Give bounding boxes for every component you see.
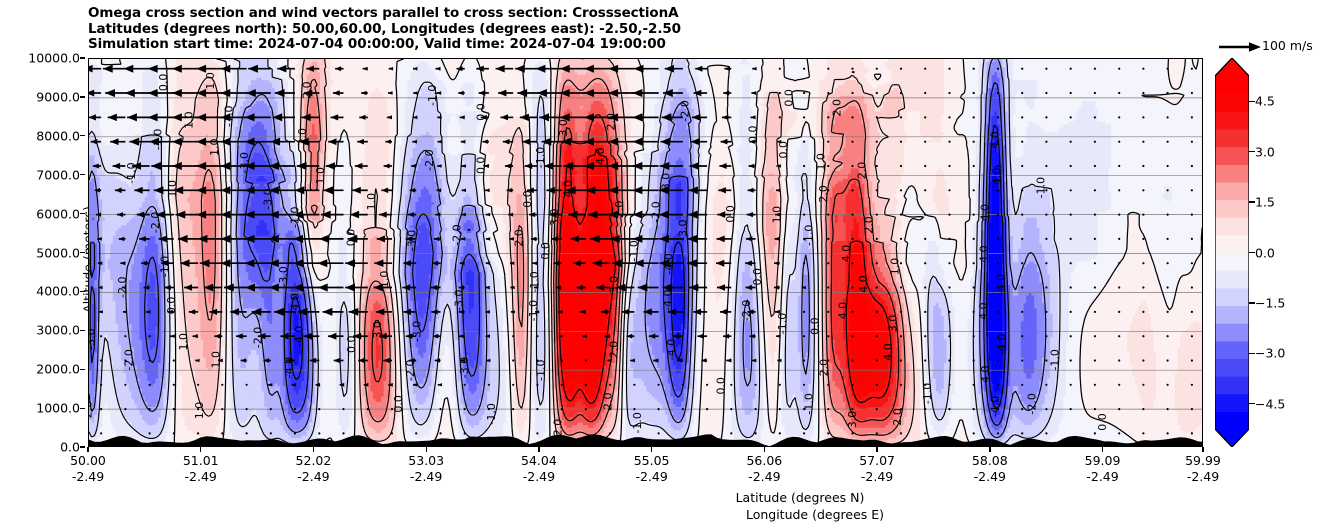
figure-canvas: Omega cross section and wind vectors par…	[0, 0, 1320, 526]
x-tick-label: 59.99-2.49	[1185, 453, 1221, 485]
colorbar-tick-mark	[1249, 353, 1255, 354]
colorbar-tick-mark	[1249, 302, 1255, 303]
colorbar-tick-mark	[1249, 201, 1255, 202]
x-tick-mark	[764, 447, 765, 452]
x-tick-mark	[876, 447, 877, 452]
colorbar-tick-mark	[1249, 101, 1255, 102]
x-tick-label: 52.02-2.49	[296, 453, 332, 485]
x-tick-mark	[651, 447, 652, 452]
x-tick-label: 57.07-2.49	[859, 453, 895, 485]
x-tick-label: 59.09-2.49	[1085, 453, 1121, 485]
x-tick-label: 55.05-2.49	[634, 453, 670, 485]
colorbar-tick-label: −1.5	[1255, 295, 1285, 310]
colorbar-tick-label: 3.0	[1255, 144, 1275, 159]
x-tick-label: 53.03-2.49	[408, 453, 444, 485]
y-tick-label: 10000.0	[28, 51, 80, 66]
y-tick-mark	[80, 57, 85, 58]
colorbar-tick-label: −3.0	[1255, 346, 1285, 361]
title-line-1: Omega cross section and wind vectors par…	[88, 5, 678, 21]
y-tick-label: 8000.0	[36, 128, 80, 143]
y-tick-label: 6000.0	[36, 206, 80, 221]
y-tick-label: 3000.0	[36, 323, 80, 338]
y-tick-mark	[80, 96, 85, 97]
y-tick-mark	[80, 446, 85, 447]
y-tick-label: 9000.0	[36, 89, 80, 104]
colorbar-tick-mark	[1249, 252, 1255, 253]
x-tick-mark	[989, 447, 990, 452]
title-line-2: Latitudes (degrees north): 50.00,60.00, …	[88, 21, 681, 37]
x-tick-mark	[1202, 447, 1203, 452]
colorbar-tick-label: 0.0	[1255, 245, 1275, 260]
colorbar-tick-label: 4.5	[1255, 94, 1275, 109]
colorbar-gradient	[1215, 58, 1249, 447]
colorbar-tick-mark	[1249, 151, 1255, 152]
x-tick-mark	[200, 447, 201, 452]
x-axis-title: Latitude (degrees N)Longitude (degrees E…	[300, 489, 1300, 523]
x-tick-mark	[1102, 447, 1103, 452]
x-tick-label: 51.01-2.49	[183, 453, 219, 485]
y-axis-ticks: 10000.09000.08000.07000.06000.05000.0400…	[0, 58, 80, 447]
colorbar: 4.53.01.50.0−1.5−3.0−4.5	[1215, 58, 1249, 447]
y-tick-label: 7000.0	[36, 167, 80, 182]
y-tick-label: 1000.0	[36, 401, 80, 416]
x-tick-label: 56.06-2.49	[746, 453, 782, 485]
x-tick-label: 58.08-2.49	[972, 453, 1008, 485]
y-tick-mark	[80, 135, 85, 136]
title-line-3: Simulation start time: 2024-07-04 00:00:…	[88, 36, 666, 52]
x-tick-mark	[87, 447, 88, 452]
y-tick-label: 5000.0	[36, 245, 80, 260]
y-tick-mark	[80, 408, 85, 409]
x-tick-mark	[426, 447, 427, 452]
figure-title: Omega cross section and wind vectors par…	[88, 6, 1188, 53]
wind-vector-key-label: 100 m/s	[1262, 38, 1313, 53]
x-tick-mark	[538, 447, 539, 452]
colorbar-tick-label: −4.5	[1255, 396, 1285, 411]
omega-cross-section: -4.0-4.0-4.0-4.0-4.0-4.0-4.0-4.0-4.0-4.0…	[89, 59, 1203, 447]
x-tick-label: 50.00-2.49	[70, 453, 106, 485]
x-tick-label: 54.04-2.49	[521, 453, 557, 485]
plot-area: -4.0-4.0-4.0-4.0-4.0-4.0-4.0-4.0-4.0-4.0…	[88, 58, 1203, 447]
colorbar-tick-mark	[1249, 403, 1255, 404]
y-tick-mark	[80, 369, 85, 370]
y-tick-label: 2000.0	[36, 362, 80, 377]
x-tick-mark	[313, 447, 314, 452]
y-tick-label: 4000.0	[36, 284, 80, 299]
colorbar-tick-label: 1.5	[1255, 195, 1275, 210]
